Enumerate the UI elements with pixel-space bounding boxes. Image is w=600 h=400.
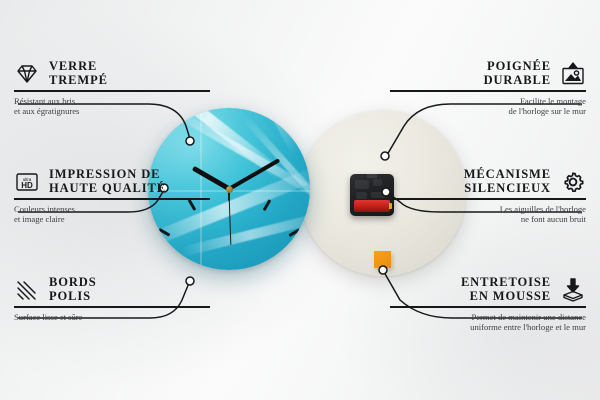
callout-description: Couleurs intenses et image claire <box>14 204 210 225</box>
clock-mechanism <box>350 174 394 216</box>
mechanism-detail <box>356 192 367 199</box>
ultra-hd-icon: ultra HD <box>14 169 40 195</box>
callout-description: Résistant aux bris et aux égratignures <box>14 96 210 117</box>
callout-header: MÉCANISME SILENCIEUX <box>390 168 586 195</box>
callout-description: Les aiguilles de l'horloge ne font aucun… <box>390 204 586 225</box>
callout-rule <box>390 306 586 308</box>
callout-poignee-durable: POIGNÉE DURABLE Facilite le montage de l… <box>390 60 586 117</box>
foam-spacer <box>374 251 391 268</box>
callout-rule <box>14 306 210 308</box>
callout-header: ultra HD IMPRESSION DE HAUTE QUALITÉ <box>14 168 210 195</box>
callout-title: POIGNÉE DURABLE <box>484 60 551 87</box>
mechanism-detail <box>373 179 382 186</box>
clock-tick <box>298 269 310 270</box>
callout-title: MÉCANISME SILENCIEUX <box>464 168 551 195</box>
callout-description: Facilite le montage de l'horloge sur le … <box>390 96 586 117</box>
callout-verre-trempe: VERRE TREMPÉ Résistant aux bris et aux é… <box>14 60 210 117</box>
mechanism-detail <box>371 192 386 198</box>
callout-title: IMPRESSION DE HAUTE QUALITÉ <box>49 168 166 195</box>
callout-header: ENTRETOISE EN MOUSSE <box>390 276 586 303</box>
callout-title: BORDS POLIS <box>49 276 97 303</box>
callout-bords-polis: BORDS POLIS Surface lisse et sûre <box>14 276 210 322</box>
callout-impression-haute-qualite: ultra HD IMPRESSION DE HAUTE QUALITÉ Cou… <box>14 168 210 225</box>
callout-rule <box>390 198 586 200</box>
callout-header: POIGNÉE DURABLE <box>390 60 586 87</box>
callout-entretoise-en-mousse: ENTRETOISE EN MOUSSE Permet de maintenir… <box>390 276 586 333</box>
infographic-canvas: VERRE TREMPÉ Résistant aux bris et aux é… <box>0 0 600 400</box>
callout-title: VERRE TREMPÉ <box>49 60 108 87</box>
callout-header: VERRE TREMPÉ <box>14 60 210 87</box>
callout-title: ENTRETOISE EN MOUSSE <box>461 276 551 303</box>
mechanism-battery <box>354 200 390 212</box>
callout-mecanisme-silencieux: MÉCANISME SILENCIEUX Les aiguilles de l'… <box>390 168 586 225</box>
callout-rule <box>390 90 586 92</box>
svg-text:HD: HD <box>21 181 33 190</box>
foam-spacer-icon <box>560 277 586 303</box>
callout-rule <box>14 198 210 200</box>
clock-tick <box>148 269 160 270</box>
callout-description: Surface lisse et sûre <box>14 312 210 323</box>
picture-hanger-icon <box>560 61 586 87</box>
callout-description: Permet de maintenir une distance uniform… <box>390 312 586 333</box>
diamond-icon <box>14 61 40 87</box>
polished-edges-icon <box>14 277 40 303</box>
gear-icon <box>560 169 586 195</box>
mechanism-shaft <box>367 174 377 178</box>
mechanism-detail <box>355 180 369 189</box>
clock-center-cap <box>226 186 233 193</box>
callout-rule <box>14 90 210 92</box>
callout-header: BORDS POLIS <box>14 276 210 303</box>
